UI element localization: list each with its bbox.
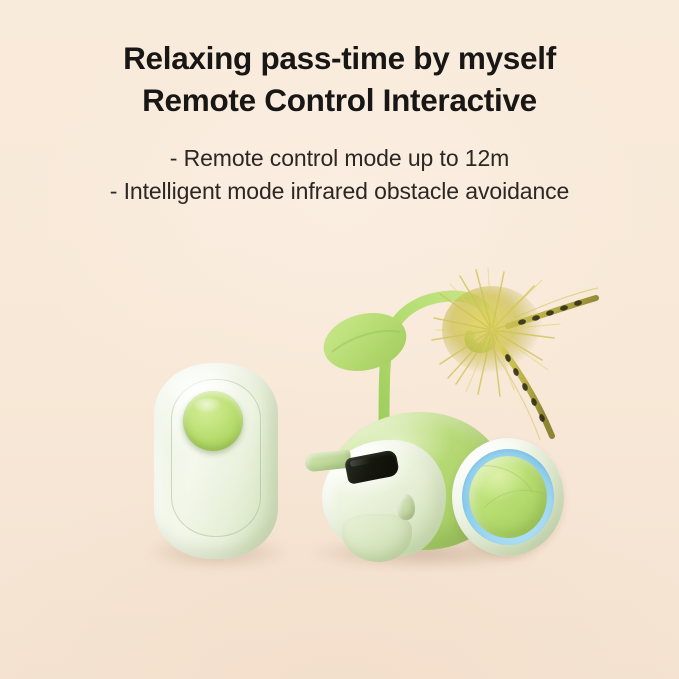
headline-line-1: Relaxing pass-time by myself: [0, 38, 679, 80]
robot-toy-product: [300, 262, 590, 562]
text-block: Relaxing pass-time by myself Remote Cont…: [0, 38, 679, 207]
wheel-blue-ring: [462, 449, 554, 545]
remote-power-button: [183, 391, 243, 451]
robot-caster-nub: [397, 494, 415, 520]
robot-wheel: [452, 438, 564, 556]
remote-control-product: [154, 363, 278, 559]
wheel-green-face: [469, 456, 547, 538]
product-marketing-poster: Relaxing pass-time by myself Remote Cont…: [0, 0, 679, 679]
headline-line-2: Remote Control Interactive: [0, 80, 679, 122]
feature-item-obstacle-avoidance: - Intelligent mode infrared obstacle avo…: [0, 175, 679, 208]
remote-shell: [154, 363, 278, 559]
feature-list: - Remote control mode up to 12m - Intell…: [0, 142, 679, 207]
page-title: Relaxing pass-time by myself Remote Cont…: [0, 38, 679, 121]
feature-item-remote-range: - Remote control mode up to 12m: [0, 142, 679, 175]
